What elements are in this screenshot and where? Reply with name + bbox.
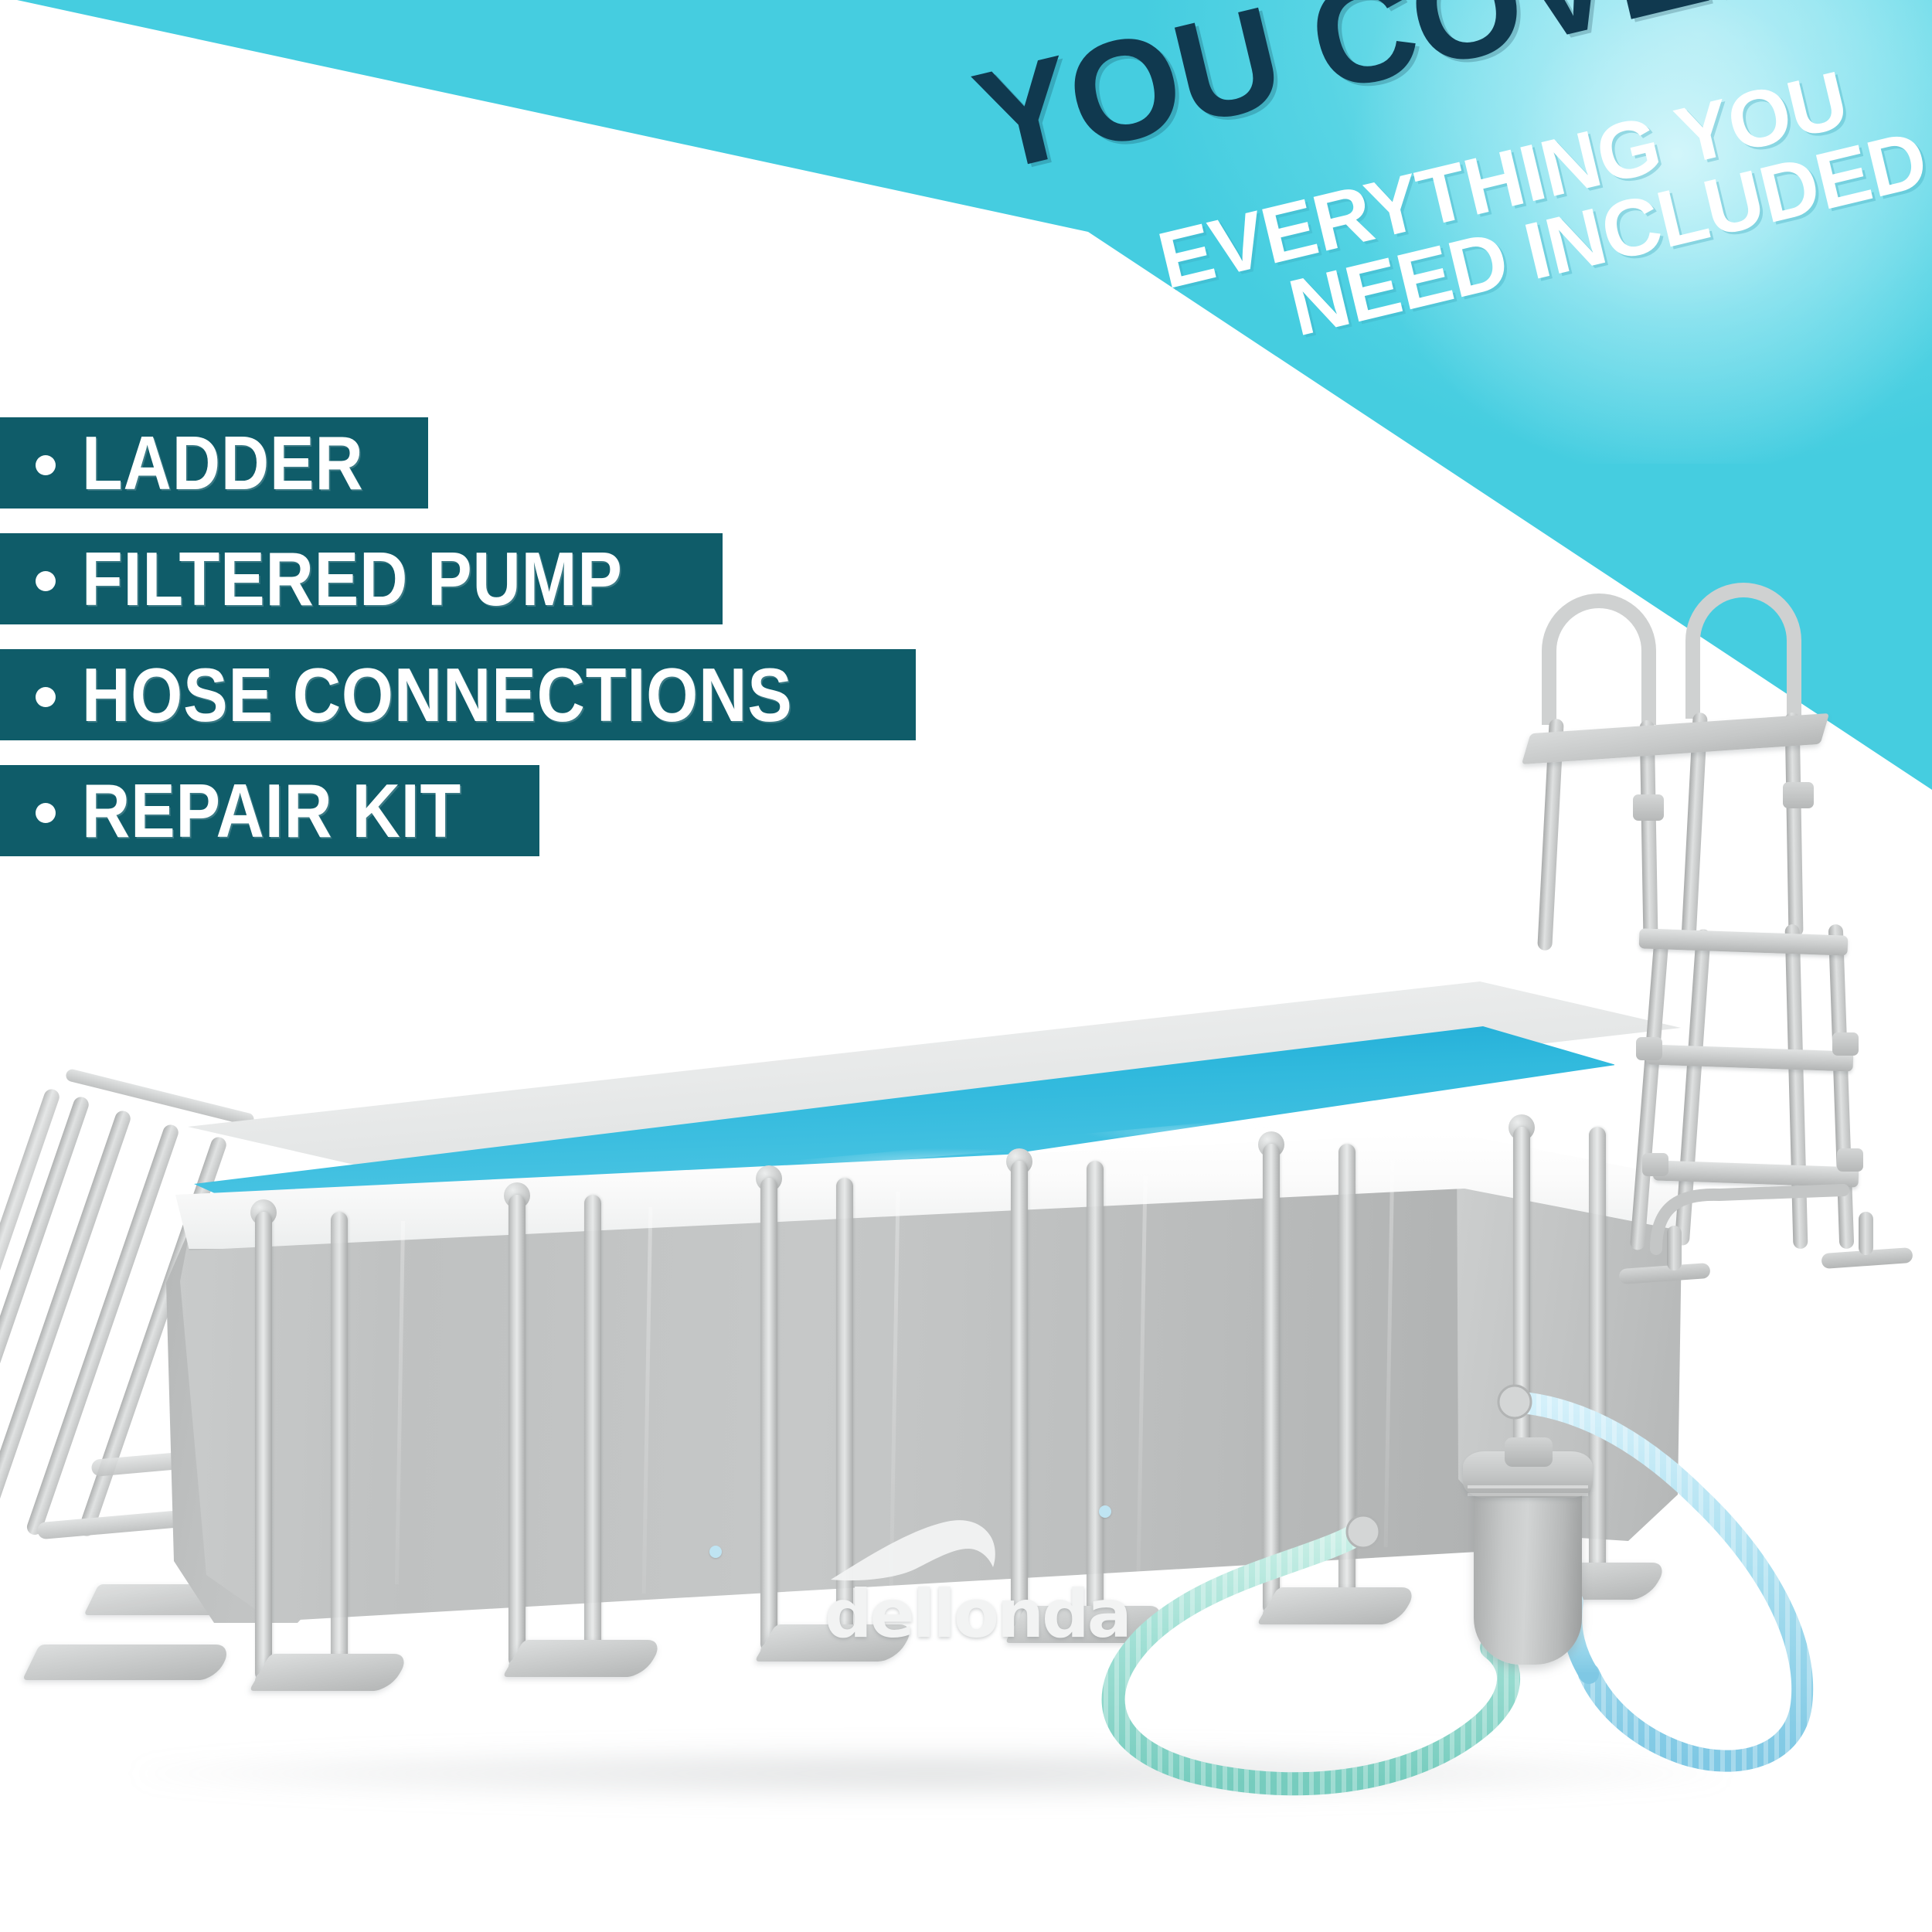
- pump-body: [1474, 1479, 1582, 1665]
- product-image-pool: dellonda: [0, 866, 1932, 1932]
- feature-label: REPAIR KIT: [82, 773, 461, 849]
- feature-badge-ladder: LADDER: [0, 417, 428, 509]
- feature-badge-hose-connections: HOSE CONNECTIONS: [0, 649, 916, 740]
- bullet-dot-icon: [36, 455, 56, 475]
- feature-list: LADDER FILTERED PUMP HOSE CONNECTIONS RE…: [0, 417, 916, 881]
- pump-knob: [1505, 1437, 1553, 1467]
- pool-ladder: [1534, 580, 1889, 1476]
- feature-badge-filtered-pump: FILTERED PUMP: [0, 533, 723, 624]
- feature-label: FILTERED PUMP: [82, 541, 623, 617]
- ladder-step: [1646, 1044, 1854, 1071]
- feature-badge-repair-kit: REPAIR KIT: [0, 765, 539, 856]
- hose-port-icon: [1498, 1386, 1531, 1418]
- ladder-brace: [1650, 1175, 1913, 1267]
- feature-label: LADDER: [82, 425, 364, 501]
- filter-pump: [1457, 1437, 1604, 1669]
- bullet-dot-icon: [36, 803, 56, 823]
- hose-port-icon: [1347, 1515, 1379, 1548]
- ladder-step: [1639, 928, 1849, 955]
- promo-banner: WE’VE GOT YOU COVERED EVERYTHING YOU NEE…: [0, 0, 1932, 1932]
- bullet-dot-icon: [36, 571, 56, 591]
- bullet-dot-icon: [36, 687, 56, 707]
- feature-label: HOSE CONNECTIONS: [82, 657, 793, 733]
